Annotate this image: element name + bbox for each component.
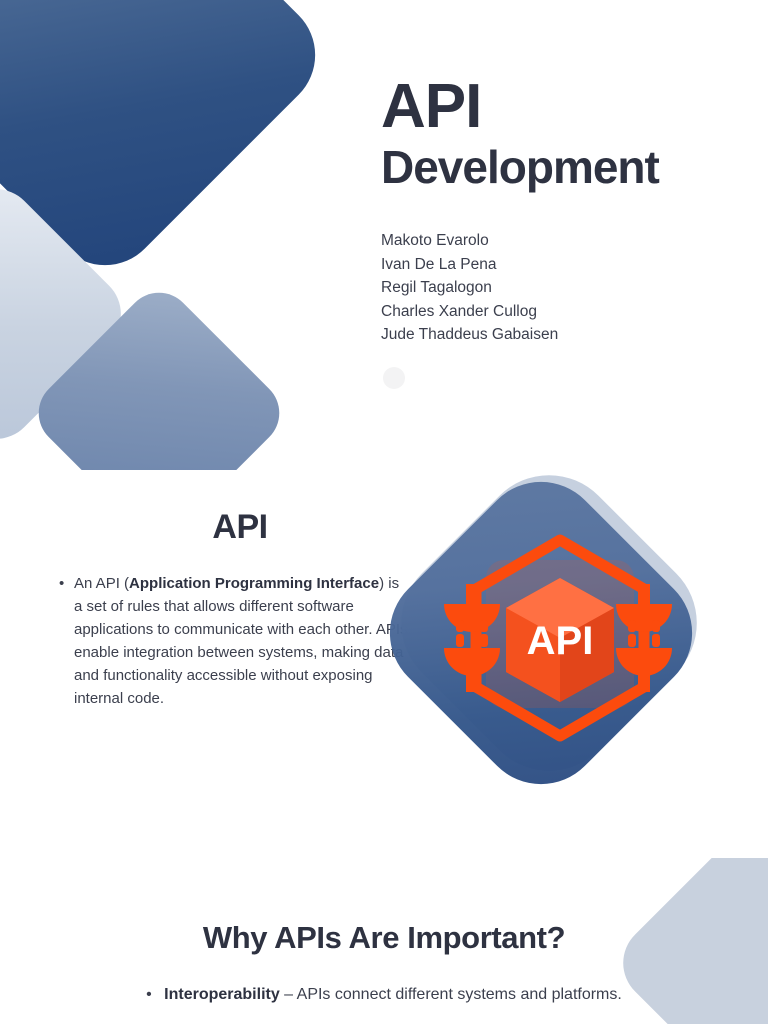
presentation-page: API Development Makoto Evarolo Ivan De L… <box>0 0 768 1024</box>
list-item: Ivan De La Pena <box>381 253 558 277</box>
importance-bullets: Interoperability – APIs connect differen… <box>0 984 768 1006</box>
navy-diamond-shape <box>0 0 338 288</box>
list-item: An API (Application Programming Interfac… <box>74 572 410 710</box>
blue-diamond-shape <box>25 279 294 470</box>
list-item: Jude Thaddeus Gabaisen <box>381 323 558 347</box>
api-definition-bullets: An API (Application Programming Interfac… <box>54 572 410 710</box>
author-list: Makoto Evarolo Ivan De La Pena Regil Tag… <box>381 229 558 347</box>
api-cube-svg: API <box>398 486 718 806</box>
list-item: Charles Xander Cullog <box>381 300 558 324</box>
pale-diamond-shape <box>0 173 137 456</box>
list-item: Regil Tagalogon <box>381 276 558 300</box>
bullet-suffix: ) is a set of rules that allows differen… <box>74 575 408 707</box>
slide-why-apis-important: Why APIs Are Important? Interoperability… <box>0 858 768 1024</box>
section-heading-api: API <box>40 508 440 547</box>
bullet-suffix: – APIs connect different systems and pla… <box>280 986 622 1003</box>
slide-api-definition: API An API (Application Programming Inte… <box>0 460 768 860</box>
list-item: Interoperability – APIs connect differen… <box>146 984 622 1006</box>
slide1-title-block: API Development <box>381 78 741 191</box>
api-cube-illustration: API <box>398 486 718 806</box>
decorative-dot <box>383 367 405 389</box>
bullet-prefix: An API ( <box>74 575 129 592</box>
page-title-secondary: Development <box>381 143 741 191</box>
page-title-primary: API <box>381 78 741 135</box>
list-item: Makoto Evarolo <box>381 229 558 253</box>
bullet-bold: Interoperability <box>164 986 280 1003</box>
section-heading-importance: Why APIs Are Important? <box>0 920 768 956</box>
cube-label: API <box>527 619 594 663</box>
bullet-bold: Application Programming Interface <box>129 575 379 592</box>
